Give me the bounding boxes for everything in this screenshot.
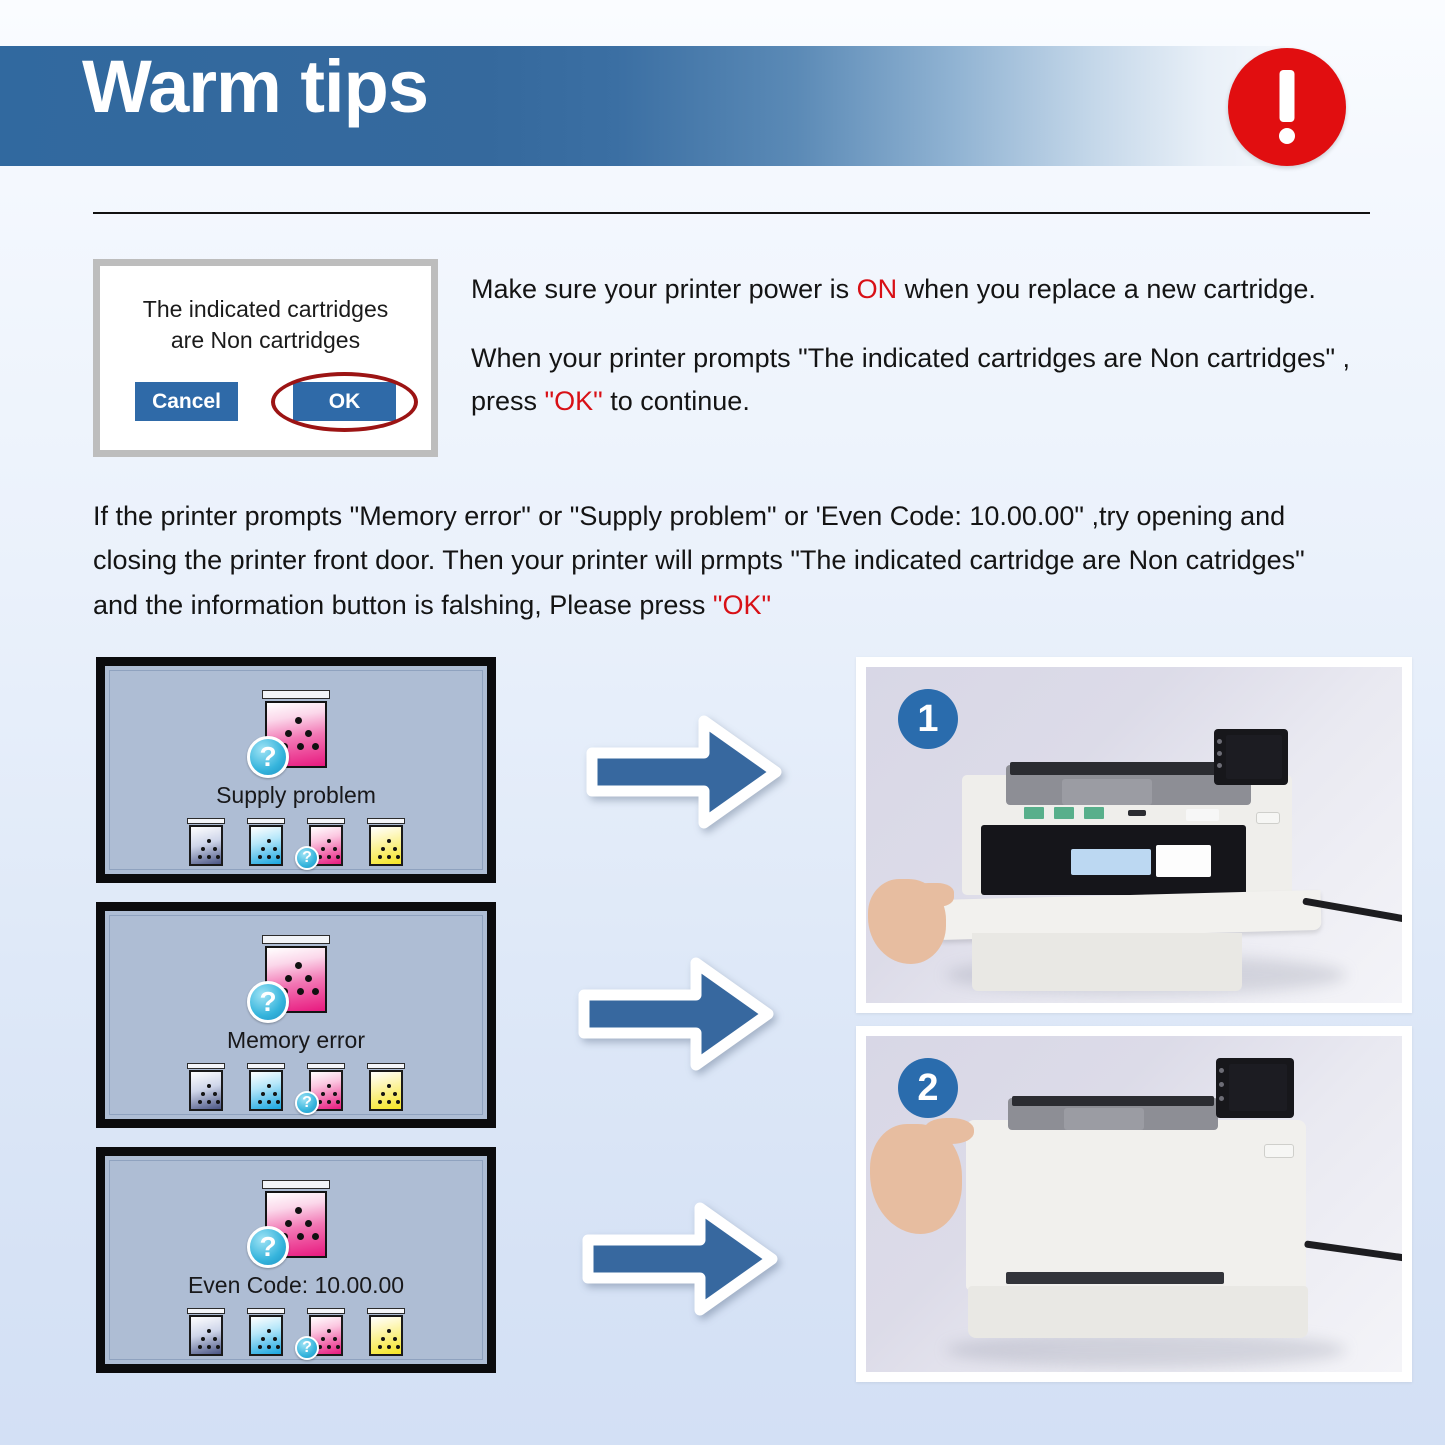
printer-screen-even-code: ? Even Code: 10.00.00 ? bbox=[96, 1147, 496, 1373]
printer-output-slot bbox=[1006, 1272, 1224, 1284]
ok-button[interactable]: OK bbox=[293, 382, 396, 421]
cartridge-blue-strip bbox=[1071, 849, 1151, 875]
instruction-paragraphs-top: Make sure your printer power is ON when … bbox=[471, 268, 1381, 424]
toner-magenta-large-icon: ? bbox=[265, 1180, 327, 1258]
printer-control-screen bbox=[1229, 1064, 1287, 1111]
mini-cartridge-yellow bbox=[369, 1308, 403, 1356]
dialog-message: The indicated cartridges are Non cartrid… bbox=[100, 294, 431, 356]
question-badge-icon: ? bbox=[247, 736, 289, 778]
question-badge-icon: ? bbox=[295, 1336, 319, 1360]
printer-power-button[interactable] bbox=[1264, 1144, 1294, 1158]
mini-cartridge-black bbox=[189, 1308, 223, 1356]
step-badge-1: 1 bbox=[898, 689, 958, 749]
dialog-message-line1: The indicated cartridges bbox=[100, 294, 431, 325]
printer-top-slot bbox=[1012, 1096, 1214, 1106]
mini-cartridge-cyan bbox=[249, 1308, 283, 1356]
printer-top-flap bbox=[1062, 779, 1152, 805]
toner-lid bbox=[262, 1180, 330, 1189]
page-title: Warm tips bbox=[82, 50, 428, 124]
header-divider bbox=[93, 212, 1370, 214]
printer-top-flap bbox=[1064, 1108, 1144, 1130]
screen-label: Memory error bbox=[105, 1027, 487, 1054]
printer-glyph-1-icon bbox=[1024, 807, 1044, 819]
printer-top-slot bbox=[1010, 762, 1248, 775]
para2-part-b: to continue. bbox=[603, 386, 750, 416]
printer-photo-1-canvas: 1 bbox=[866, 667, 1402, 1003]
step-badge-2: 2 bbox=[898, 1058, 958, 1118]
ok-button-wrapper: OK bbox=[293, 382, 396, 421]
printer-photo-step-1: 1 bbox=[856, 657, 1412, 1013]
dialog-button-row: Cancel OK bbox=[100, 382, 431, 421]
exclamation-bar bbox=[1280, 70, 1295, 122]
question-badge-icon: ? bbox=[247, 981, 289, 1023]
printer-screen-memory-error: ? Memory error ? bbox=[96, 902, 496, 1128]
arrow-right-step-2 bbox=[578, 955, 774, 1073]
screen-label: Even Code: 10.00.00 bbox=[105, 1272, 487, 1299]
panel-button-3 bbox=[1217, 763, 1222, 768]
panel-button-1 bbox=[1217, 739, 1222, 744]
hand-finger bbox=[924, 1118, 974, 1144]
printer-control-screen bbox=[1226, 735, 1282, 779]
mini-cartridge-yellow bbox=[369, 818, 403, 866]
para2-highlight: "OK" bbox=[545, 386, 603, 416]
arrow-right-step-1 bbox=[586, 713, 782, 831]
printer-paper-tray bbox=[968, 1286, 1308, 1338]
mini-cartridge-magenta: ? bbox=[309, 818, 343, 866]
mini-cartridge-black bbox=[189, 1063, 223, 1111]
toner-magenta-large-icon: ? bbox=[265, 935, 327, 1013]
hand-finger bbox=[912, 883, 954, 907]
cancel-button[interactable]: Cancel bbox=[135, 382, 238, 421]
printer-dialog-mock: The indicated cartridges are Non cartrid… bbox=[93, 259, 438, 457]
toner-lid bbox=[262, 690, 330, 699]
printer-paper-tray bbox=[972, 933, 1242, 991]
screen-label: Supply problem bbox=[105, 782, 487, 809]
printer-screen-supply-problem: ? Supply problem ? bbox=[96, 657, 496, 883]
para1-part-b: when you replace a new cartridge. bbox=[897, 274, 1316, 304]
printer-screen-list: ? Supply problem ? bbox=[96, 657, 496, 1392]
mini-cartridge-yellow bbox=[369, 1063, 403, 1111]
panel-button-2 bbox=[1217, 751, 1222, 756]
power-cord bbox=[1304, 1240, 1402, 1262]
dialog-message-line2: are Non cartridges bbox=[100, 325, 431, 356]
printer-power-button[interactable] bbox=[1256, 812, 1280, 824]
question-badge-icon: ? bbox=[247, 1226, 289, 1268]
panel-button-1 bbox=[1219, 1068, 1224, 1073]
printer-usb-slot bbox=[1128, 810, 1146, 816]
para1-highlight: ON bbox=[857, 274, 898, 304]
toner-lid bbox=[262, 935, 330, 944]
panel-button-3 bbox=[1219, 1096, 1224, 1101]
instruction-paragraph-1: Make sure your printer power is ON when … bbox=[471, 268, 1381, 311]
instruction-paragraph-2: When your printer prompts "The indicated… bbox=[471, 337, 1381, 423]
mini-cartridge-cyan bbox=[249, 818, 283, 866]
para3-part-a: If the printer prompts "Memory error" or… bbox=[93, 501, 1305, 620]
mini-cartridge-row: ? bbox=[105, 1308, 487, 1356]
exclamation-dot bbox=[1279, 128, 1295, 144]
para3-highlight: "OK" bbox=[713, 590, 771, 620]
printer-glyph-3-icon bbox=[1084, 807, 1104, 819]
instruction-paragraph-3: If the printer prompts "Memory error" or… bbox=[93, 494, 1343, 627]
mini-cartridge-cyan bbox=[249, 1063, 283, 1111]
question-badge-icon: ? bbox=[295, 846, 319, 870]
question-badge-icon: ? bbox=[295, 1091, 319, 1115]
mini-cartridge-row: ? bbox=[105, 1063, 487, 1111]
cartridge-warning-label bbox=[1156, 845, 1211, 877]
toner-magenta-large-icon: ? bbox=[265, 690, 327, 768]
mini-cartridge-magenta: ? bbox=[309, 1308, 343, 1356]
para1-part-a: Make sure your printer power is bbox=[471, 274, 857, 304]
printer-model-label bbox=[1186, 809, 1219, 821]
printer-photo-2-canvas: 2 bbox=[866, 1036, 1402, 1372]
printer-photo-step-2: 2 bbox=[856, 1026, 1412, 1382]
mini-cartridge-row: ? bbox=[105, 818, 487, 866]
printer-glyph-2-icon bbox=[1054, 807, 1074, 819]
panel-button-2 bbox=[1219, 1082, 1224, 1087]
arrow-right-step-3 bbox=[582, 1200, 778, 1318]
mini-cartridge-black bbox=[189, 818, 223, 866]
printer-body bbox=[966, 1120, 1306, 1290]
exclamation-circle-icon bbox=[1228, 48, 1346, 166]
mini-cartridge-magenta: ? bbox=[309, 1063, 343, 1111]
